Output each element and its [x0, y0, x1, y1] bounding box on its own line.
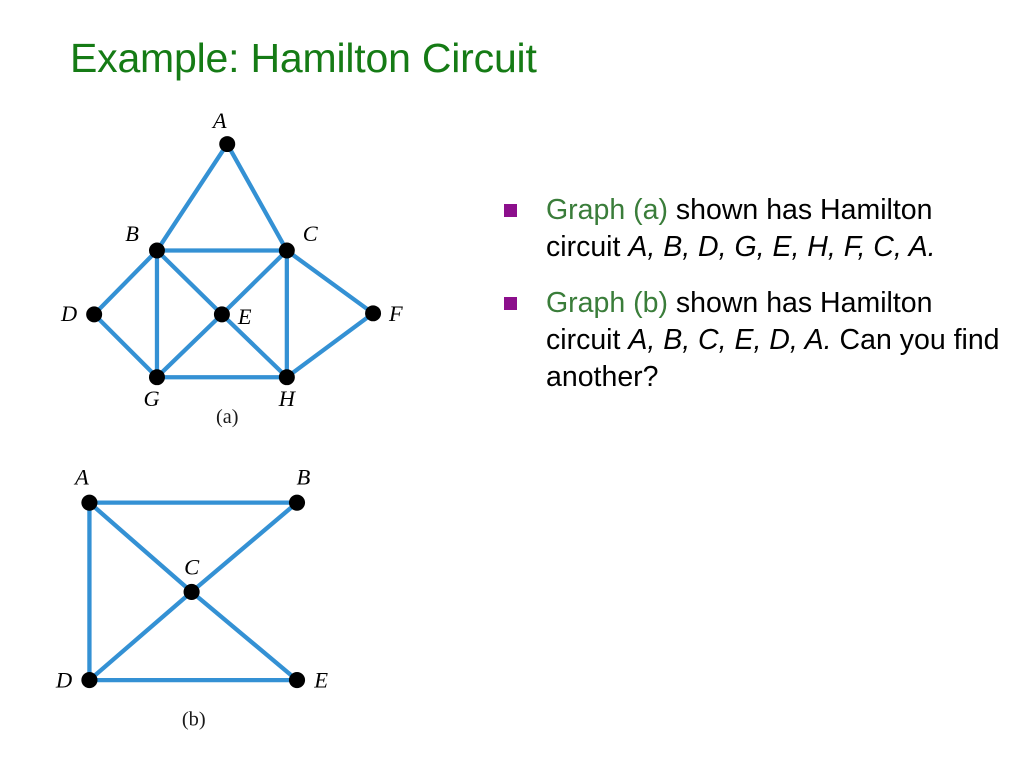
graph-vertex-C	[184, 584, 200, 600]
vertex-label-D: D	[55, 668, 72, 693]
graph-edge-EG	[157, 314, 222, 377]
bullet-1-circuit: A, B, D, G, E, H, F, C, A.	[628, 231, 935, 263]
bullet-list: Graph (a) shown has Hamilton circuit A, …	[498, 192, 1010, 415]
graph-vertex-A	[219, 136, 235, 152]
square-bullet-icon	[504, 297, 517, 310]
graph-edge-EH	[222, 314, 287, 377]
graph-edge-AC	[227, 144, 287, 250]
graph-vertex-D	[86, 306, 102, 322]
bullet-text-1: Graph (a) shown has Hamilton circuit A, …	[546, 194, 936, 263]
bullet-text-2: Graph (b) shown has Hamilton circuit A, …	[546, 287, 1000, 394]
graph-edge-BC	[192, 503, 297, 592]
bullet-1-highlight: Graph (a)	[546, 194, 668, 226]
list-item: Graph (a) shown has Hamilton circuit A, …	[498, 192, 1010, 267]
graph-vertex-D	[81, 672, 97, 688]
vertex-label-C: C	[303, 221, 319, 246]
graph-edge-BD	[94, 251, 157, 315]
graph-edge-CE	[222, 251, 287, 315]
graph-a-diagram: ABCDEFGH (a)	[0, 110, 480, 440]
graph-vertex-A	[81, 495, 97, 511]
graph-edge-CF	[287, 251, 373, 314]
graph-edge-AC	[89, 503, 191, 592]
vertex-label-C: C	[184, 555, 200, 580]
square-bullet-icon	[504, 204, 517, 217]
figure-graph-a: ABCDEFGH (a)	[0, 110, 480, 440]
vertex-label-E: E	[313, 668, 328, 693]
vertex-label-B: B	[125, 221, 139, 246]
vertex-label-G: G	[144, 386, 160, 411]
graph-vertex-B	[289, 495, 305, 511]
vertex-label-D: D	[60, 301, 77, 326]
vertex-label-A: A	[211, 108, 227, 133]
graph-vertex-H	[279, 369, 295, 385]
graph-edge-CD	[89, 592, 191, 680]
figures-panel: ABCDEFGH (a) ABCDE (b)	[0, 110, 480, 750]
graph-vertex-E	[214, 306, 230, 322]
graph-b-diagram: ABCDE (b)	[0, 465, 480, 750]
graph-vertex-E	[289, 672, 305, 688]
bullet-2-circuit: A, B, C, E, D, A.	[628, 324, 831, 356]
graph-edge-DG	[94, 314, 157, 377]
graph-edge-BE	[157, 251, 222, 315]
vertex-label-E: E	[237, 304, 252, 329]
graph-vertex-F	[365, 305, 381, 321]
figure-a-caption: (a)	[216, 406, 238, 428]
graph-a-edges	[94, 144, 373, 377]
graph-edge-AB	[157, 144, 227, 250]
list-item: Graph (b) shown has Hamilton circuit A, …	[498, 285, 1010, 397]
page-title: Example: Hamilton Circuit	[70, 36, 970, 82]
graph-edge-CE	[192, 592, 297, 680]
vertex-label-B: B	[297, 464, 311, 489]
vertex-label-F: F	[388, 301, 403, 326]
vertex-label-A: A	[73, 464, 89, 489]
figure-b-caption: (b)	[182, 708, 206, 730]
graph-edge-FH	[287, 313, 373, 377]
vertex-label-H: H	[278, 386, 297, 411]
graph-vertex-C	[279, 243, 295, 259]
graph-vertex-G	[149, 369, 165, 385]
bullet-2-highlight: Graph (b)	[546, 287, 668, 319]
figure-graph-b: ABCDE (b)	[0, 465, 480, 750]
graph-vertex-B	[149, 243, 165, 259]
